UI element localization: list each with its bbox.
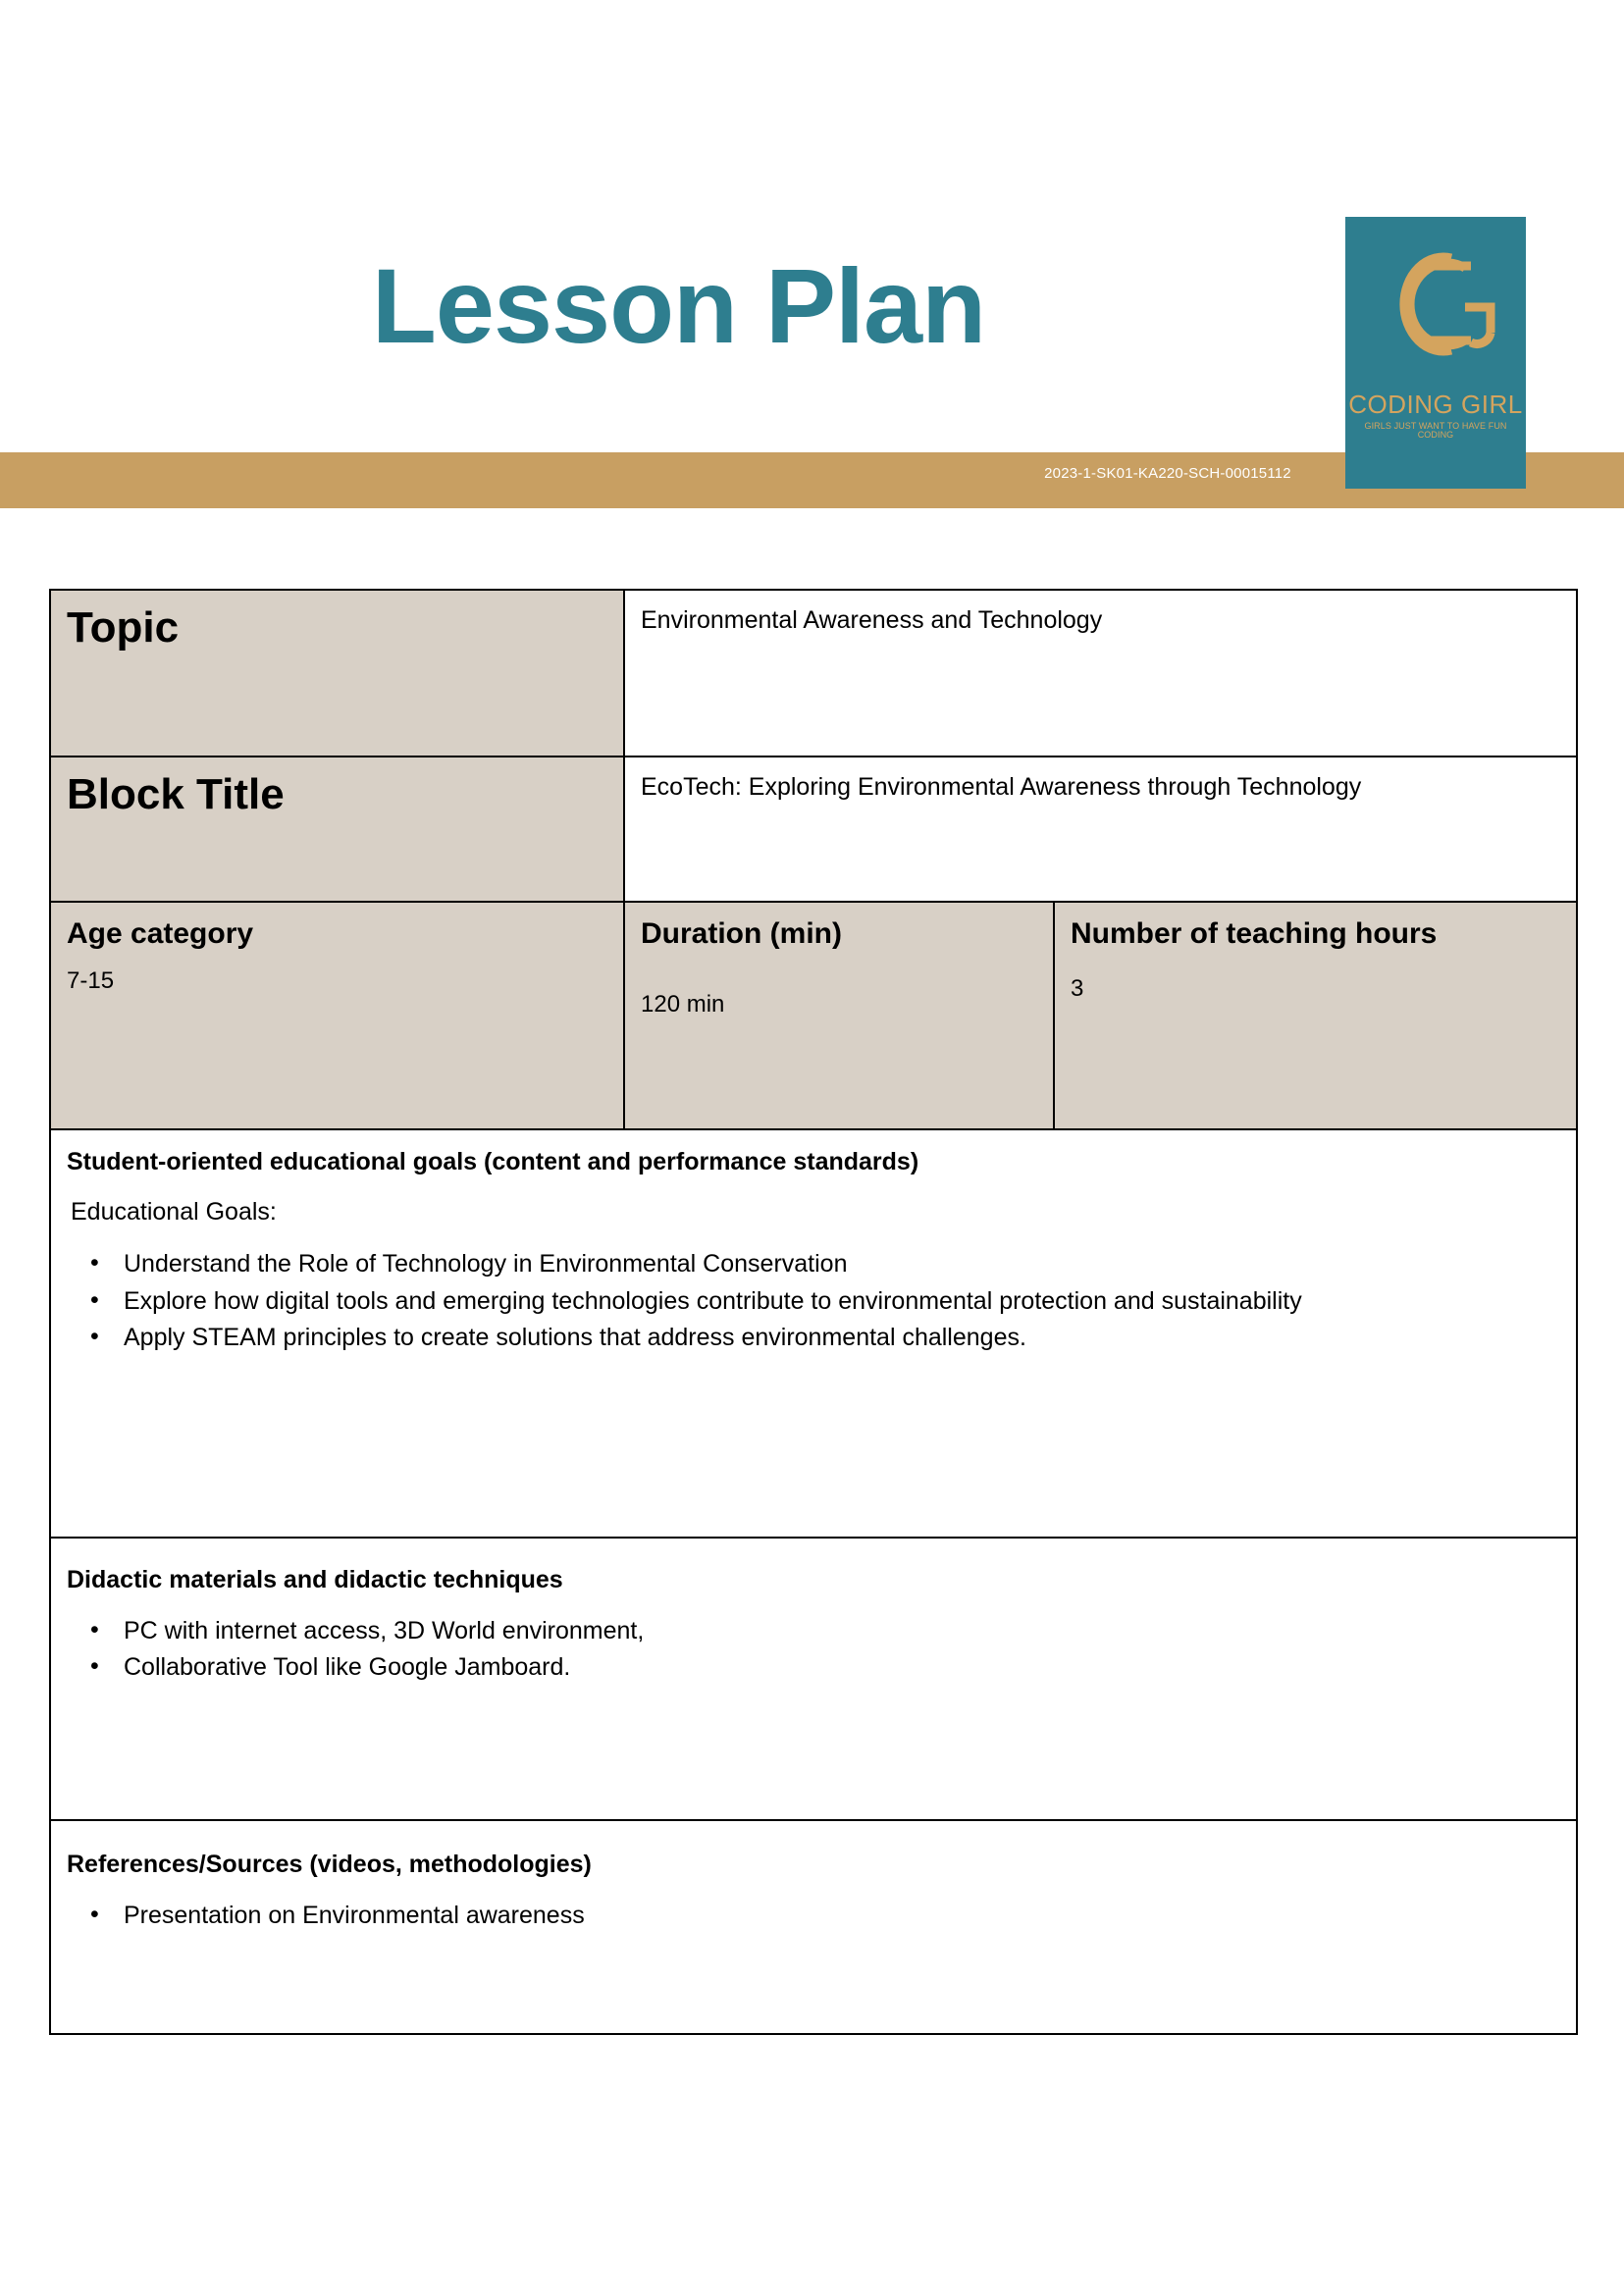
page-title: Lesson Plan [0,253,1357,359]
duration-label: Duration (min) [641,916,1037,952]
table-row-didactic: Didactic materials and didactic techniqu… [50,1538,1577,1820]
list-item: Understand the Role of Technology in Env… [124,1247,1560,1282]
teaching-hours-label: Number of teaching hours [1071,916,1560,952]
didactic-list: PC with internet access, 3D World enviro… [67,1614,1560,1686]
logo-name-label: CODING GIRL [1345,391,1526,417]
topic-label: Topic [67,604,607,652]
topic-label-cell: Topic [50,590,624,757]
block-title-label: Block Title [67,771,607,818]
goals-list: Understand the Role of Technology in Env… [67,1247,1560,1356]
topic-value: Environmental Awareness and Technology [641,604,1560,637]
list-item: Presentation on Environmental awareness [124,1899,1560,1934]
table-row-meta: Age category 7-15 Duration (min) 120 min… [50,902,1577,1129]
list-item: Collaborative Tool like Google Jamboard. [124,1650,1560,1686]
coding-girl-logo: CODING GIRL GIRLS JUST WANT TO HAVE FUN … [1345,217,1526,489]
block-title-label-cell: Block Title [50,757,624,902]
page-header: Lesson Plan 2023-1-SK01-KA220-SCH-000151… [0,0,1624,520]
references-list: Presentation on Environmental awareness [67,1899,1560,1934]
didactic-heading: Didactic materials and didactic techniqu… [67,1564,1560,1596]
teaching-hours-value: 3 [1071,973,1560,1004]
topic-value-cell: Environmental Awareness and Technology [624,590,1577,757]
age-category-cell: Age category 7-15 [50,902,624,1129]
table-row-goals: Student-oriented educational goals (cont… [50,1129,1577,1538]
duration-cell: Duration (min) 120 min [624,902,1054,1129]
list-item: PC with internet access, 3D World enviro… [124,1614,1560,1649]
references-heading: References/Sources (videos, methodologie… [67,1849,1560,1881]
block-title-value-cell: EcoTech: Exploring Environmental Awarene… [624,757,1577,902]
logo-tagline-label: GIRLS JUST WANT TO HAVE FUN CODING [1345,422,1526,440]
age-category-value: 7-15 [67,965,607,996]
table-row-references: References/Sources (videos, methodologie… [50,1820,1577,2034]
lesson-plan-table: Topic Environmental Awareness and Techno… [49,589,1578,2035]
table-row-block-title: Block Title EcoTech: Exploring Environme… [50,757,1577,902]
table-row-topic: Topic Environmental Awareness and Techno… [50,590,1577,757]
cg-monogram-icon [1345,231,1526,378]
goals-cell: Student-oriented educational goals (cont… [50,1129,1577,1538]
references-cell: References/Sources (videos, methodologie… [50,1820,1577,2034]
goals-intro: Educational Goals: [71,1196,1560,1228]
block-title-value: EcoTech: Exploring Environmental Awarene… [641,771,1560,804]
list-item: Apply STEAM principles to create solutio… [124,1321,1560,1356]
duration-value: 120 min [641,989,1037,1019]
list-item: Explore how digital tools and emerging t… [124,1284,1560,1320]
goals-heading: Student-oriented educational goals (cont… [67,1146,1560,1178]
didactic-cell: Didactic materials and didactic techniqu… [50,1538,1577,1820]
age-category-label: Age category [67,916,607,952]
teaching-hours-cell: Number of teaching hours 3 [1054,902,1577,1129]
project-code-label: 2023-1-SK01-KA220-SCH-00015112 [1011,465,1325,482]
